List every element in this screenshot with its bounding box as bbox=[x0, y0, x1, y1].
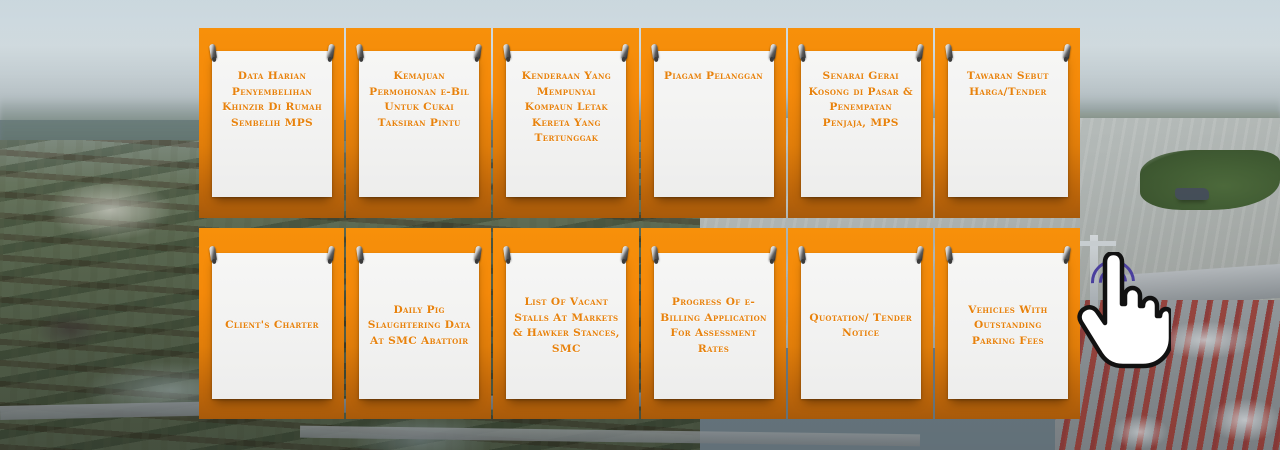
pin-icon bbox=[503, 44, 511, 60]
tile-label: Data Harian Penyembelihan Khinzir Di Rum… bbox=[217, 51, 327, 131]
tile-label: Kenderaan Yang Mempunyai Kompaun Letak K… bbox=[511, 51, 621, 147]
pin-icon bbox=[916, 246, 924, 262]
page-root: Data Harian Penyembelihan Khinzir Di Rum… bbox=[0, 0, 1280, 450]
note-paper: Piagam Pelanggan bbox=[654, 51, 774, 197]
tile-label: Senarai Gerai Kosong di Pasar & Penempat… bbox=[806, 51, 916, 131]
tile-row-bottom: Client's Charter Daily Pig Slaughtering … bbox=[199, 228, 1080, 419]
tile-vehicles-outstanding-parking-fees[interactable]: Vehicles With Outstanding Parking Fees bbox=[935, 228, 1080, 419]
note-paper: Tawaran Sebut Harga/Tender bbox=[948, 51, 1068, 197]
pin-icon bbox=[945, 246, 953, 262]
tile-list-of-vacant-stalls[interactable]: List Of Vacant Stalls At Markets & Hawke… bbox=[493, 228, 638, 419]
tile-label: Quotation/ Tender Notice bbox=[806, 311, 916, 342]
pin-icon bbox=[651, 246, 659, 262]
pin-icon bbox=[621, 44, 629, 60]
pin-icon bbox=[209, 246, 217, 262]
note-paper: Client's Charter bbox=[212, 253, 332, 399]
pin-icon bbox=[356, 44, 364, 60]
tile-kemajuan-permohonan-ebil[interactable]: Kemajuan Permohonan e-Bil Untuk Cukai Ta… bbox=[346, 28, 491, 218]
pin-icon bbox=[769, 44, 777, 60]
tile-label: Vehicles With Outstanding Parking Fees bbox=[953, 303, 1063, 350]
tile-grid: Data Harian Penyembelihan Khinzir Di Rum… bbox=[199, 28, 1080, 419]
tile-label: Client's Charter bbox=[217, 318, 327, 334]
pin-icon bbox=[945, 44, 953, 60]
note-paper: Vehicles With Outstanding Parking Fees bbox=[948, 253, 1068, 399]
pin-icon bbox=[621, 246, 629, 262]
pin-icon bbox=[798, 246, 806, 262]
tile-label: Progress Of e-Billing Application For As… bbox=[659, 295, 769, 357]
note-paper: Kemajuan Permohonan e-Bil Untuk Cukai Ta… bbox=[359, 51, 479, 197]
note-paper: Quotation/ Tender Notice bbox=[801, 253, 921, 399]
tile-progress-of-ebilling[interactable]: Progress Of e-Billing Application For As… bbox=[641, 228, 786, 419]
tile-tawaran-sebut-harga-tender[interactable]: Tawaran Sebut Harga/Tender bbox=[935, 28, 1080, 218]
tile-kenderaan-kompaun-letak-kereta[interactable]: Kenderaan Yang Mempunyai Kompaun Letak K… bbox=[493, 28, 638, 218]
note-paper: Kenderaan Yang Mempunyai Kompaun Letak K… bbox=[506, 51, 626, 197]
tile-senarai-gerai-kosong[interactable]: Senarai Gerai Kosong di Pasar & Penempat… bbox=[788, 28, 933, 218]
note-paper: Progress Of e-Billing Application For As… bbox=[654, 253, 774, 399]
pin-icon bbox=[769, 246, 777, 262]
pin-icon bbox=[474, 44, 482, 60]
tile-row-top: Data Harian Penyembelihan Khinzir Di Rum… bbox=[199, 28, 1080, 218]
tile-daily-pig-slaughtering-data[interactable]: Daily Pig Slaughtering Data At SMC Abatt… bbox=[346, 228, 491, 419]
tile-quotation-tender-notice[interactable]: Quotation/ Tender Notice bbox=[788, 228, 933, 419]
pin-icon bbox=[356, 246, 364, 262]
note-paper: List Of Vacant Stalls At Markets & Hawke… bbox=[506, 253, 626, 399]
tile-piagam-pelanggan[interactable]: Piagam Pelanggan bbox=[641, 28, 786, 218]
pin-icon bbox=[474, 246, 482, 262]
tile-clients-charter[interactable]: Client's Charter bbox=[199, 228, 344, 419]
note-paper: Daily Pig Slaughtering Data At SMC Abatt… bbox=[359, 253, 479, 399]
pin-icon bbox=[209, 44, 217, 60]
pin-icon bbox=[798, 44, 806, 60]
tile-label: List Of Vacant Stalls At Markets & Hawke… bbox=[511, 295, 621, 357]
pin-icon bbox=[503, 246, 511, 262]
tile-data-harian-penyembelihan[interactable]: Data Harian Penyembelihan Khinzir Di Rum… bbox=[199, 28, 344, 218]
note-paper: Senarai Gerai Kosong di Pasar & Penempat… bbox=[801, 51, 921, 197]
pin-icon bbox=[327, 44, 335, 60]
tile-label: Tawaran Sebut Harga/Tender bbox=[953, 51, 1063, 100]
tile-label: Piagam Pelanggan bbox=[659, 51, 769, 85]
tile-label: Kemajuan Permohonan e-Bil Untuk Cukai Ta… bbox=[364, 51, 474, 131]
pin-icon bbox=[327, 246, 335, 262]
tile-label: Daily Pig Slaughtering Data At SMC Abatt… bbox=[364, 303, 474, 350]
pin-icon bbox=[1063, 44, 1071, 60]
pin-icon bbox=[916, 44, 924, 60]
pin-icon bbox=[1063, 246, 1071, 262]
pin-icon bbox=[651, 44, 659, 60]
note-paper: Data Harian Penyembelihan Khinzir Di Rum… bbox=[212, 51, 332, 197]
